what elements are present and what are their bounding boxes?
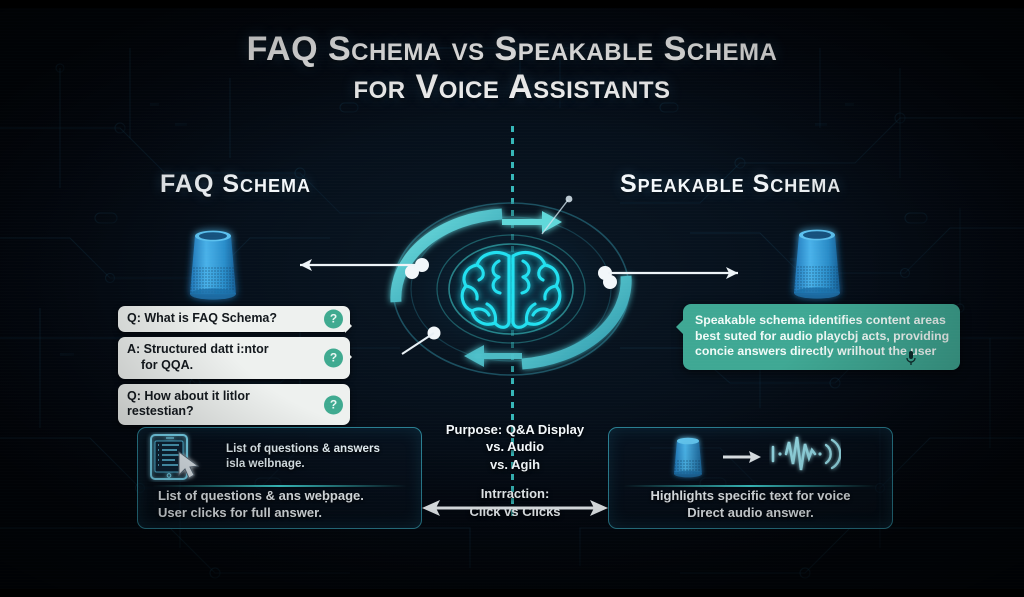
tablet-cursor-icon — [138, 432, 216, 482]
card-divider-rule — [623, 485, 878, 487]
faq-card-top-line-1: List of questions & answers — [226, 442, 380, 457]
brain-icon — [382, 194, 640, 384]
faq-card-top-text: List of questions & answers isla welbnag… — [216, 442, 380, 472]
title-line-2: for Voice Assistants — [0, 68, 1024, 106]
faq-bubble-1[interactable]: Q: What is FAQ Schema? ? — [118, 306, 350, 332]
infographic-canvas: FAQ Schema vs Speakable Schema for Voice… — [0, 0, 1024, 597]
faq-card-top: List of questions & answers isla welbnag… — [138, 428, 421, 485]
faq-bubble-2[interactable]: A: Structured datt i:ntor for QQA. ? — [118, 337, 350, 379]
audio-waveform-icon — [769, 432, 841, 481]
purpose-line-1: Purpose: Q&A Display — [420, 421, 610, 438]
speakable-card-bottom-line-1: Highlights specific text for voice — [609, 488, 892, 505]
faq-bubble-3-text-2: restestian? — [127, 404, 194, 418]
faq-card-bottom-text: List of questions & ans weḅpage. User cl… — [138, 488, 421, 522]
heading-faq-schema: FAQ Schema — [160, 170, 311, 199]
speaker-icon-small — [661, 433, 715, 481]
speakable-card-bottom-line-2: Direct audio answer. — [609, 505, 892, 522]
page-title: FAQ Schema vs Speakable Schema for Voice… — [0, 30, 1024, 106]
card-divider-rule — [152, 485, 407, 487]
faq-bubble-3[interactable]: Q: How about it litlor restestian? ? — [118, 384, 350, 426]
faq-bubble-2-text-2: for QQA. — [127, 358, 316, 373]
faq-summary-card: List of questions & answers isla welbnag… — [137, 427, 422, 529]
microphone-icon — [906, 351, 916, 366]
faq-card-bottom-line-2: User clicks for full answer. — [158, 505, 421, 522]
question-badge-icon: ? — [324, 349, 343, 368]
title-line-1: FAQ Schema vs Speakable Schema — [0, 30, 1024, 68]
connector-arrow-left — [282, 254, 432, 281]
faq-bubble-3-text: Q: How about it litlor — [127, 389, 250, 403]
faq-card-top-line-2: isla welbnage. — [226, 457, 380, 472]
smart-speaker-icon — [181, 222, 245, 311]
faq-bubble-1-text: Q: What is FAQ Schema? — [127, 311, 277, 325]
connector-arrow-right — [596, 262, 756, 289]
faq-card-bottom-line-1: List of questions & ans weḅpage. — [158, 488, 421, 505]
smart-speaker-icon-right — [785, 221, 849, 310]
arrow-right-icon — [721, 449, 763, 465]
purpose-line-3: vs. Agih — [420, 456, 610, 473]
question-badge-icon: ? — [324, 395, 343, 414]
artwork-area: FAQ Schema vs Speakable Schema for Voice… — [0, 8, 1024, 589]
speakable-card-top — [609, 428, 892, 485]
speakable-card-bottom-text: Highlights specific text for voice Direc… — [609, 488, 892, 522]
speakable-description-bubble[interactable]: Speakable schema identifies content area… — [683, 304, 960, 370]
double-headed-arrow-icon — [420, 497, 610, 519]
speakable-summary-card: Highlights specific text for voice Direc… — [608, 427, 893, 529]
heading-speakable-schema: Speakable Schema — [620, 170, 841, 199]
faq-bubble-2-text: A: Structured datt i:ntor — [127, 342, 269, 356]
purpose-line-2: vs. Audio — [420, 438, 610, 455]
question-badge-icon: ? — [324, 310, 343, 329]
faq-bubble-list: Q: What is FAQ Schema? ? A: Structured d… — [118, 306, 350, 430]
